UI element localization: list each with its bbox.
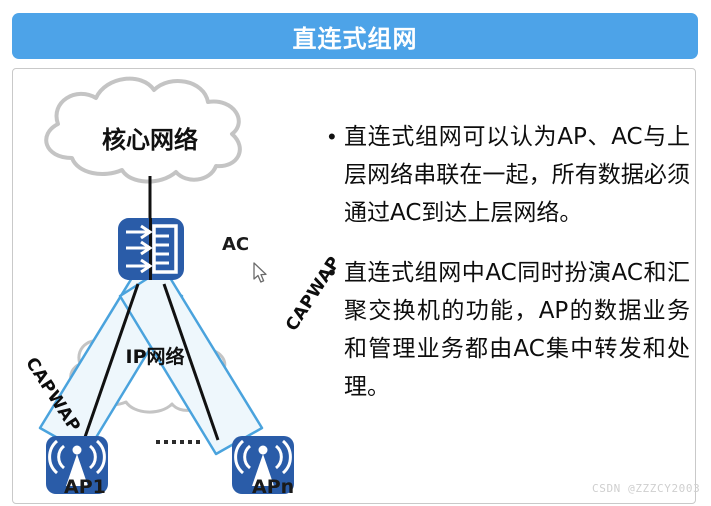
list-item: • 直连式组网可以认为AP、AC与上层网络串联在一起，所有数据必须通过AC到达上…	[328, 118, 690, 232]
watermark-text: CSDN @ZZZCY2003	[592, 482, 700, 495]
ap-ellipsis-indicator	[156, 440, 200, 444]
slide-root: 直连式组网	[0, 0, 711, 506]
bullet-text: 直连式组网可以认为AP、AC与上层网络串联在一起，所有数据必须通过AC到达上层网…	[344, 118, 690, 232]
bullet-marker-icon: •	[328, 254, 344, 292]
core-network-label: 核心网络	[60, 120, 240, 155]
list-item: • 直连式组网中AC同时扮演AC和汇聚交换机的功能，AP的数据业务和管理业务都由…	[328, 254, 690, 406]
bullet-text: 直连式组网中AC同时扮演AC和汇聚交换机的功能，AP的数据业务和管理业务都由AC…	[344, 254, 690, 406]
page-title: 直连式组网	[293, 19, 418, 54]
ip-network-label: IP网络	[90, 342, 220, 369]
ap1-device-label: AP1	[64, 476, 106, 498]
ac-device-label: AC	[222, 234, 249, 255]
bullet-list: • 直连式组网可以认为AP、AC与上层网络串联在一起，所有数据必须通过AC到达上…	[328, 118, 690, 428]
mouse-cursor-icon	[253, 262, 269, 289]
slide-title-bar: 直连式组网	[12, 13, 698, 59]
ac-device-icon	[118, 218, 184, 280]
network-topology-diagram: 核心网络 IP网络 AC AP1 APn CAPWAP CAPWAP	[14, 72, 324, 504]
bullet-marker-icon: •	[328, 118, 344, 156]
apn-device-label: APn	[252, 476, 294, 498]
